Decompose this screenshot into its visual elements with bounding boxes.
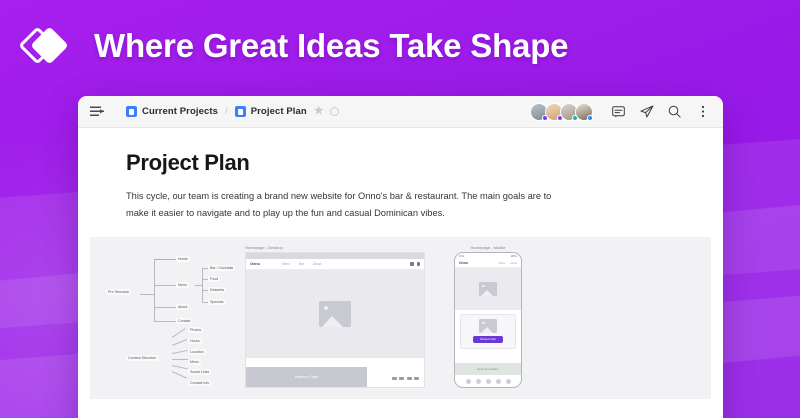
star-icon[interactable]: ★: [314, 106, 324, 117]
banner-header: Where Great Ideas Take Shape: [0, 0, 800, 92]
phone-footer-banner: Hours & Location: [455, 363, 521, 375]
mindmap-line: [202, 268, 203, 302]
mobile-mockup-title: Homepage - Mobile: [433, 245, 543, 250]
mindmap-branch: Home: [176, 256, 190, 262]
breadcrumb-item-project-plan[interactable]: Project Plan: [251, 106, 307, 117]
document-paragraph: This cycle, our team is creating a brand…: [126, 188, 556, 221]
mindmap-leaf: Photos: [188, 327, 203, 333]
social-icon: [506, 379, 511, 384]
mindmap-line: [154, 285, 176, 286]
thumbnail: [392, 377, 397, 380]
desktop-wireframe-window: Onno Menu Bar About: [245, 252, 425, 388]
mindmap-line: [172, 359, 188, 360]
wireframe-nav-icons: [410, 262, 420, 266]
wireframe-thumbnails: [392, 377, 420, 380]
search-icon[interactable]: [664, 101, 685, 122]
status-time: 9:41: [459, 255, 464, 258]
phone-nav-links: Menu About: [499, 262, 517, 265]
phone-nav-link[interactable]: Menu: [499, 262, 506, 265]
more-options-glyph: [701, 105, 705, 118]
share-icon[interactable]: [636, 101, 657, 122]
document-area: Project Plan This cycle, our team is cre…: [78, 128, 723, 418]
image-placeholder-icon: [319, 301, 351, 327]
social-icon: [476, 379, 481, 384]
mindmap-line: [154, 321, 176, 322]
breadcrumb-item-current-projects[interactable]: Current Projects: [142, 106, 218, 117]
desktop-wireframe-card[interactable]: Homepage - Desktop Onno Menu Bar About: [245, 245, 425, 391]
banner-headline: Where Great Ideas Take Shape: [94, 27, 568, 65]
app-toolbar: Current Projects / Project Plan ★: [78, 96, 723, 128]
breadcrumb: Current Projects / Project Plan ★: [126, 106, 339, 117]
collaborator-avatars: [533, 103, 593, 121]
mindmap-branch: About: [176, 304, 189, 310]
thumbnail: [407, 377, 412, 380]
phone-frame: 9:41 100% Onno Menu About: [454, 252, 522, 388]
mindmap-card[interactable]: Pre Structure Home Menu About Contact Ba…: [100, 245, 237, 391]
app-window: Current Projects / Project Plan ★: [78, 96, 723, 418]
mindmap-line: [172, 371, 187, 378]
wireframe-footer-banner: Reserve a Table: [246, 367, 367, 387]
mindmap-leaf: Location: [188, 349, 206, 355]
wireframe-nav-links: Menu Bar About: [282, 262, 321, 266]
phone-navbar: Onno Menu About: [455, 259, 521, 268]
circle-icon[interactable]: [330, 107, 339, 116]
sidebar-toggle-glyph: [90, 106, 105, 117]
breadcrumb-separator: /: [225, 106, 228, 117]
menu-icon: [417, 262, 421, 266]
wireframe-navbar: Onno Menu Bar About: [246, 259, 424, 270]
phone-icon-row: [455, 376, 521, 387]
search-glyph: [668, 105, 681, 118]
phone-content-card: Reserve Now: [460, 314, 516, 349]
mindmap-line: [154, 259, 176, 260]
desktop-wireframe-title: Homepage - Desktop: [245, 245, 425, 250]
mindmap-branch: Menu: [176, 282, 189, 288]
image-placeholder-icon: [479, 319, 497, 333]
wireframe-nav-link[interactable]: About: [313, 262, 321, 266]
image-placeholder-icon: [479, 282, 497, 296]
mobile-mockup-card[interactable]: Homepage - Mobile 9:41 100% Onno Menu Ab…: [433, 245, 543, 391]
diamond-logo-icon: [22, 23, 68, 69]
document-icon: [126, 106, 137, 117]
mindmap-leaf: Contact Info: [188, 380, 211, 386]
mindmap-leaf: Bar / Cocktails: [208, 265, 235, 271]
phone-nav-link[interactable]: About: [510, 262, 517, 265]
mindmap-line: [154, 307, 176, 308]
more-options-icon[interactable]: [692, 101, 713, 122]
social-icon: [486, 379, 491, 384]
wireframe-nav-link[interactable]: Bar: [299, 262, 304, 266]
document-icon: [235, 106, 246, 117]
mindmap-leaf: Menu: [188, 359, 201, 365]
mindmap-leaf: Desserts: [208, 287, 226, 293]
mindmap-leaf: Hours: [188, 338, 202, 344]
mindmap-line: [172, 339, 187, 346]
wireframe-logo: Onno: [250, 262, 260, 266]
mindmap-root-top: Pre Structure: [106, 289, 131, 295]
comment-glyph: [612, 106, 625, 118]
wireframe-footer-label: Reserve a Table: [295, 375, 318, 379]
thumbnail: [399, 377, 404, 380]
social-icon: [466, 379, 471, 384]
avatar[interactable]: [575, 103, 593, 121]
mindmap-root-bottom: Content Structure: [126, 355, 158, 361]
thumbnail: [414, 377, 419, 380]
status-badge: [587, 115, 593, 121]
embed-gallery: Pre Structure Home Menu About Contact Ba…: [90, 237, 711, 399]
cart-icon: [410, 262, 414, 266]
phone-notch: [477, 254, 499, 258]
mindmap-line: [172, 350, 188, 354]
phone-logo: Onno: [459, 261, 468, 265]
mindmap-line: [154, 259, 155, 321]
comment-icon[interactable]: [608, 101, 629, 122]
mindmap-line: [172, 328, 186, 337]
page-title: Project Plan: [126, 150, 675, 176]
mindmap-line: [140, 294, 154, 295]
phone-hero: [455, 268, 521, 310]
mindmap-leaf: Specials: [208, 299, 226, 305]
mindmap-line: [172, 365, 188, 369]
mindmap-branch: Contact: [176, 318, 192, 324]
status-battery: 100%: [510, 255, 517, 258]
wireframe-nav-link[interactable]: Menu: [282, 262, 290, 266]
mindmap-line: [195, 285, 202, 286]
sidebar-toggle-icon[interactable]: [86, 101, 108, 123]
share-glyph: [640, 105, 654, 118]
reserve-now-button[interactable]: Reserve Now: [473, 336, 503, 343]
wireframe-hero: [246, 270, 424, 358]
social-icon: [496, 379, 501, 384]
phone-footer-label: Hours & Location: [477, 367, 498, 371]
mindmap-leaf: Food: [208, 276, 220, 282]
mindmap-leaf: Social Links: [188, 369, 211, 375]
